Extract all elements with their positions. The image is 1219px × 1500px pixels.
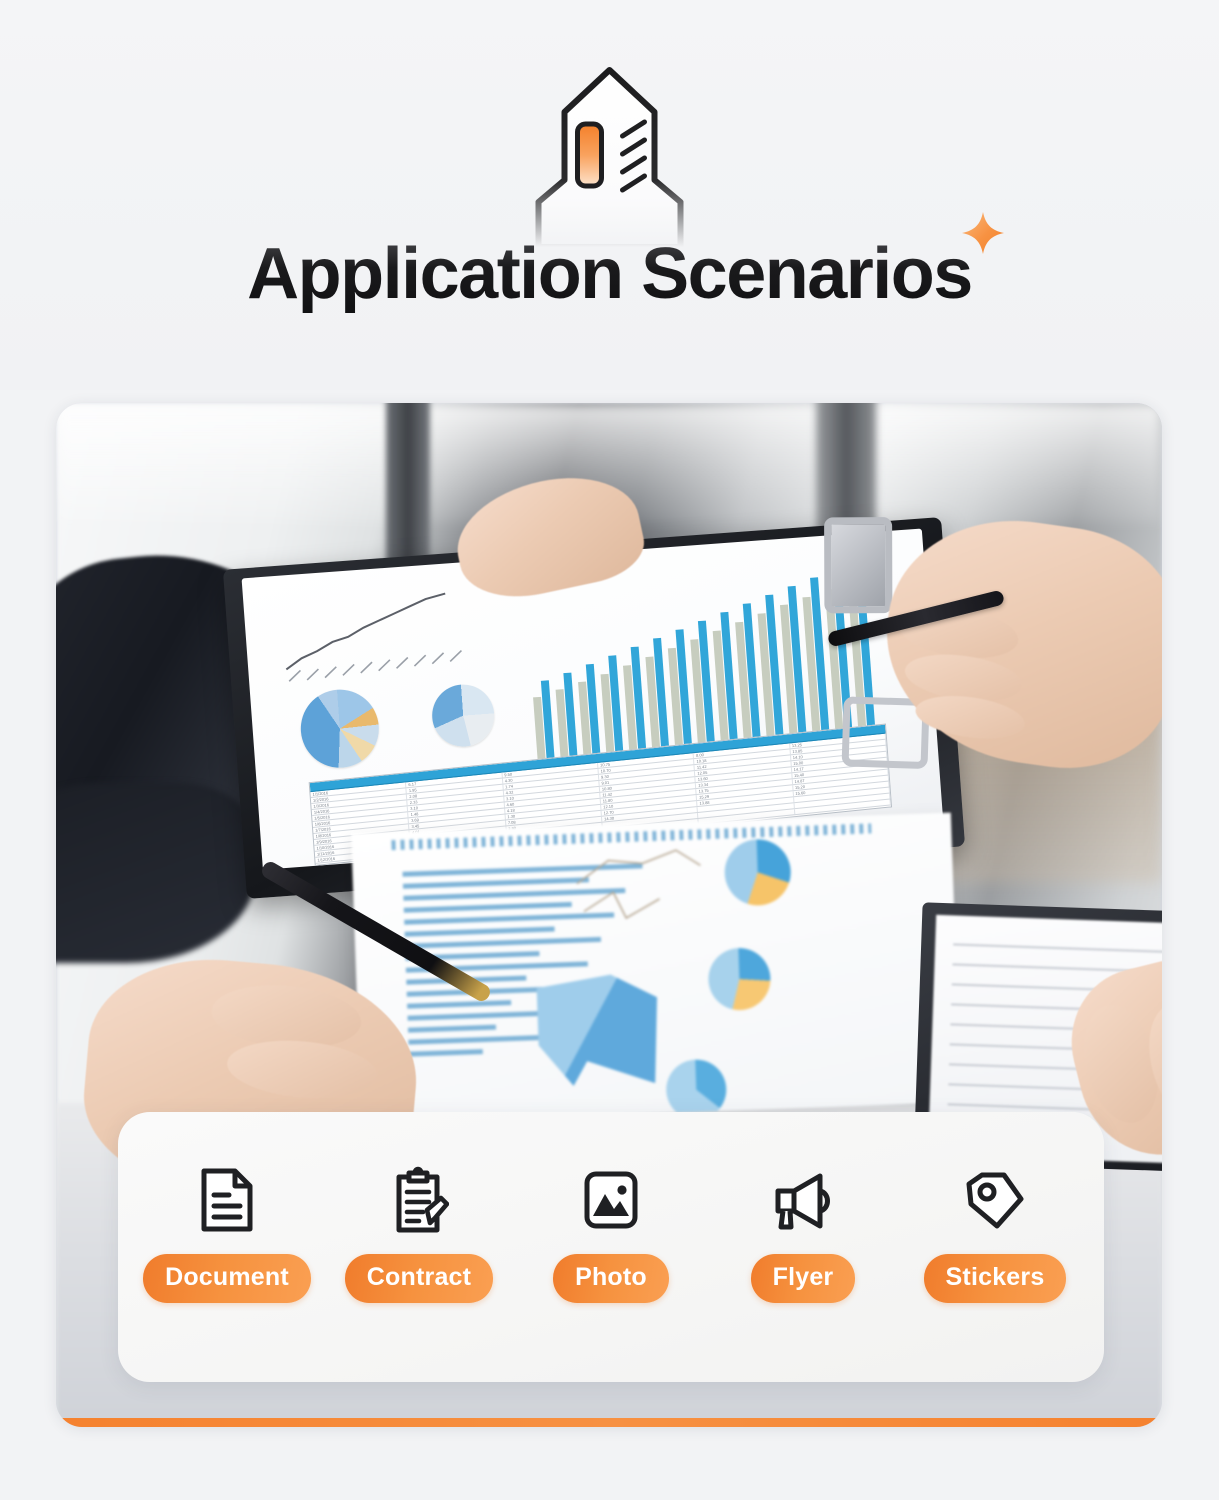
image-picture-icon — [581, 1164, 641, 1236]
category-row: Document Contract — [118, 1164, 1104, 1303]
page-title: Application Scenarios — [247, 234, 972, 314]
category-pill-photo[interactable]: Photo — [553, 1254, 669, 1303]
line-chart-art — [275, 580, 521, 683]
page-header: Application Scenarios — [0, 0, 1219, 390]
pie-chart-art-1 — [298, 687, 382, 771]
category-item-flyer[interactable]: Flyer — [712, 1164, 894, 1303]
document-page-icon — [199, 1164, 255, 1236]
category-item-document[interactable]: Document — [136, 1164, 318, 1303]
building-tower-icon — [502, 62, 717, 247]
category-item-stickers[interactable]: Stickers — [904, 1164, 1086, 1303]
pie-chart-art-2 — [430, 682, 496, 748]
title-row: Application Scenarios — [0, 238, 1219, 310]
clipboard-pencil-icon — [389, 1164, 449, 1236]
megaphone-icon — [770, 1164, 836, 1236]
photo-accent-bar — [56, 1418, 1162, 1427]
category-panel: Document Contract — [118, 1112, 1104, 1382]
price-tag-icon — [964, 1164, 1026, 1236]
clipboard-clip — [824, 517, 892, 613]
category-pill-document[interactable]: Document — [143, 1254, 311, 1303]
category-item-contract[interactable]: Contract — [328, 1164, 510, 1303]
category-pill-contract[interactable]: Contract — [345, 1254, 493, 1303]
category-pill-flyer[interactable]: Flyer — [751, 1254, 856, 1303]
category-item-photo[interactable]: Photo — [520, 1164, 702, 1303]
category-pill-stickers[interactable]: Stickers — [924, 1254, 1067, 1303]
sparkle-star-icon — [960, 210, 1006, 256]
